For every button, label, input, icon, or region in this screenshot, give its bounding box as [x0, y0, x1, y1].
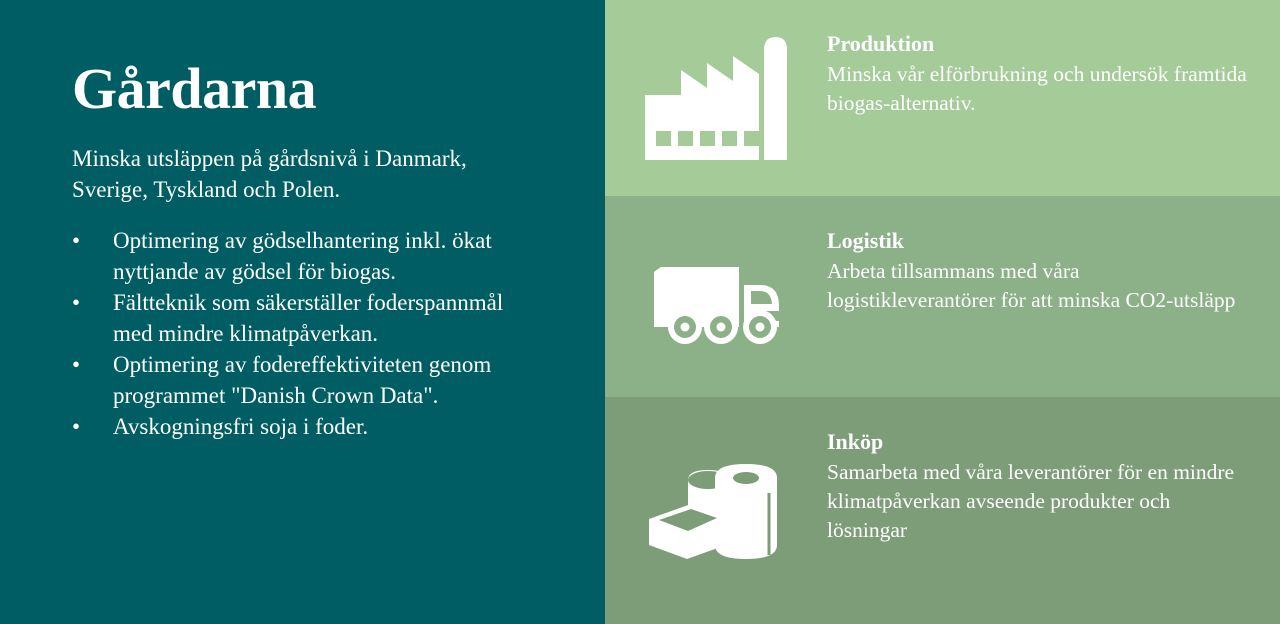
card-body: Samarbeta med våra leverantörer för en m… — [827, 458, 1252, 545]
list-item-label: Avskogningsfri soja i foder. — [113, 414, 368, 439]
page-subtitle: Minska utsläppen på gårdsnivå i Danmark,… — [72, 144, 542, 205]
list-item-label: Optimering av fodereffektiviteten genom … — [113, 352, 491, 408]
bullet-marker-icon: • — [72, 226, 92, 257]
factory-icon — [645, 36, 787, 160]
right-panel: Produktion Minska vår elförbrukning och … — [605, 0, 1280, 624]
card-title: Logistik — [827, 227, 1252, 255]
card-text-block: Inköp Samarbeta med våra leverantörer fö… — [827, 397, 1280, 545]
card-inkop: Inköp Samarbeta med våra leverantörer fö… — [605, 397, 1280, 624]
card-title: Inköp — [827, 428, 1252, 456]
card-icon-slot — [605, 397, 827, 624]
card-icon-slot — [605, 0, 827, 196]
list-item-label: Fältteknik som säkerställer foderspannmå… — [113, 290, 503, 346]
bullet-marker-icon: • — [72, 288, 92, 319]
card-text-block: Produktion Minska vår elförbrukning och … — [827, 0, 1280, 118]
left-panel: Gårdarna Minska utsläppen på gårdsnivå i… — [0, 0, 605, 624]
card-icon-slot — [605, 196, 827, 397]
card-body: Minska vår elförbrukning och undersök fr… — [827, 60, 1252, 118]
card-body: Arbeta tillsammans med våra logistikleve… — [827, 257, 1252, 315]
card-text-block: Logistik Arbeta tillsammans med våra log… — [827, 196, 1280, 315]
list-item: • Fältteknik som säkerställer foderspann… — [72, 288, 542, 349]
bullet-list: • Optimering av gödselhantering inkl. ök… — [72, 226, 542, 444]
bullet-marker-icon: • — [72, 350, 92, 381]
card-produktion: Produktion Minska vår elförbrukning och … — [605, 0, 1280, 196]
list-item: • Avskogningsfri soja i foder. — [72, 412, 542, 443]
bullet-marker-icon: • — [72, 412, 92, 443]
page-title: Gårdarna — [72, 58, 316, 120]
list-item: • Optimering av gödselhantering inkl. ök… — [72, 226, 542, 287]
slide-canvas: Gårdarna Minska utsläppen på gårdsnivå i… — [0, 0, 1280, 624]
card-title: Produktion — [827, 30, 1252, 58]
truck-icon — [645, 249, 787, 345]
packaging-rolls-icon — [645, 459, 787, 563]
card-logistik: Logistik Arbeta tillsammans med våra log… — [605, 196, 1280, 397]
list-item-label: Optimering av gödselhantering inkl. ökat… — [113, 228, 492, 284]
list-item: • Optimering av fodereffektiviteten geno… — [72, 350, 542, 411]
